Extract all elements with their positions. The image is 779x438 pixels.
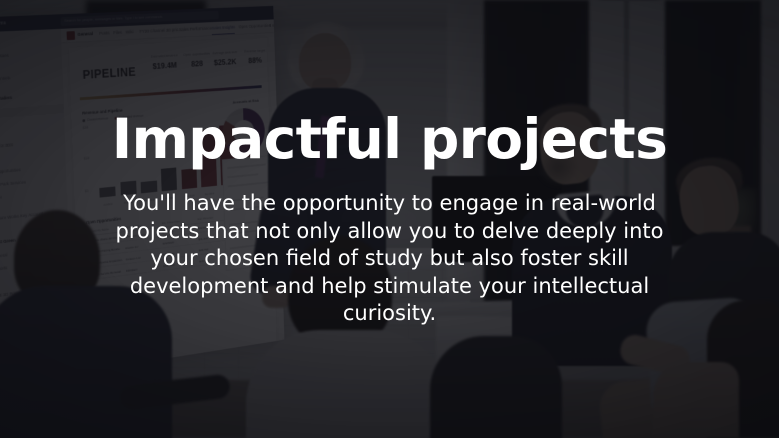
- hero-banner: Microsoft Teams Search for people, messa…: [0, 0, 779, 438]
- hero-title: Impactful projects: [112, 110, 668, 168]
- hero-content: Impactful projects You'll have the oppor…: [0, 0, 779, 438]
- hero-body-text: You'll have the opportunity to engage in…: [100, 190, 680, 328]
